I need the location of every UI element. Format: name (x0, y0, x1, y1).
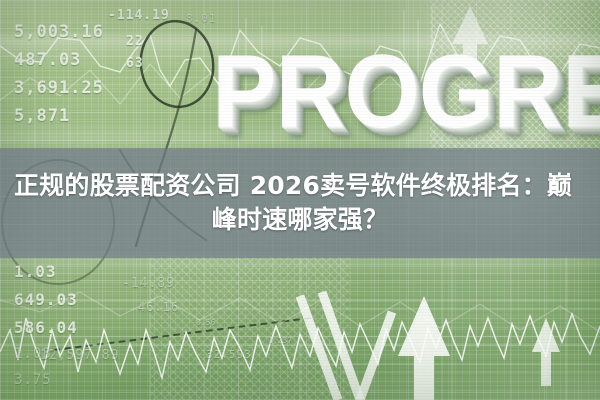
headline-line-2: 峰时速哪家强？ (212, 205, 388, 235)
headline-line-1: 正规的股票配资公司 2026卖号软件终极排名：巅 (10, 171, 572, 201)
headline-text-block: 正规的股票配资公司 2026卖号软件终极排名：巅 峰时速哪家强？ (0, 148, 600, 258)
banner-image: 5,003.16 487.03 3,691.25 5,871 1.03 649.… (0, 0, 600, 400)
